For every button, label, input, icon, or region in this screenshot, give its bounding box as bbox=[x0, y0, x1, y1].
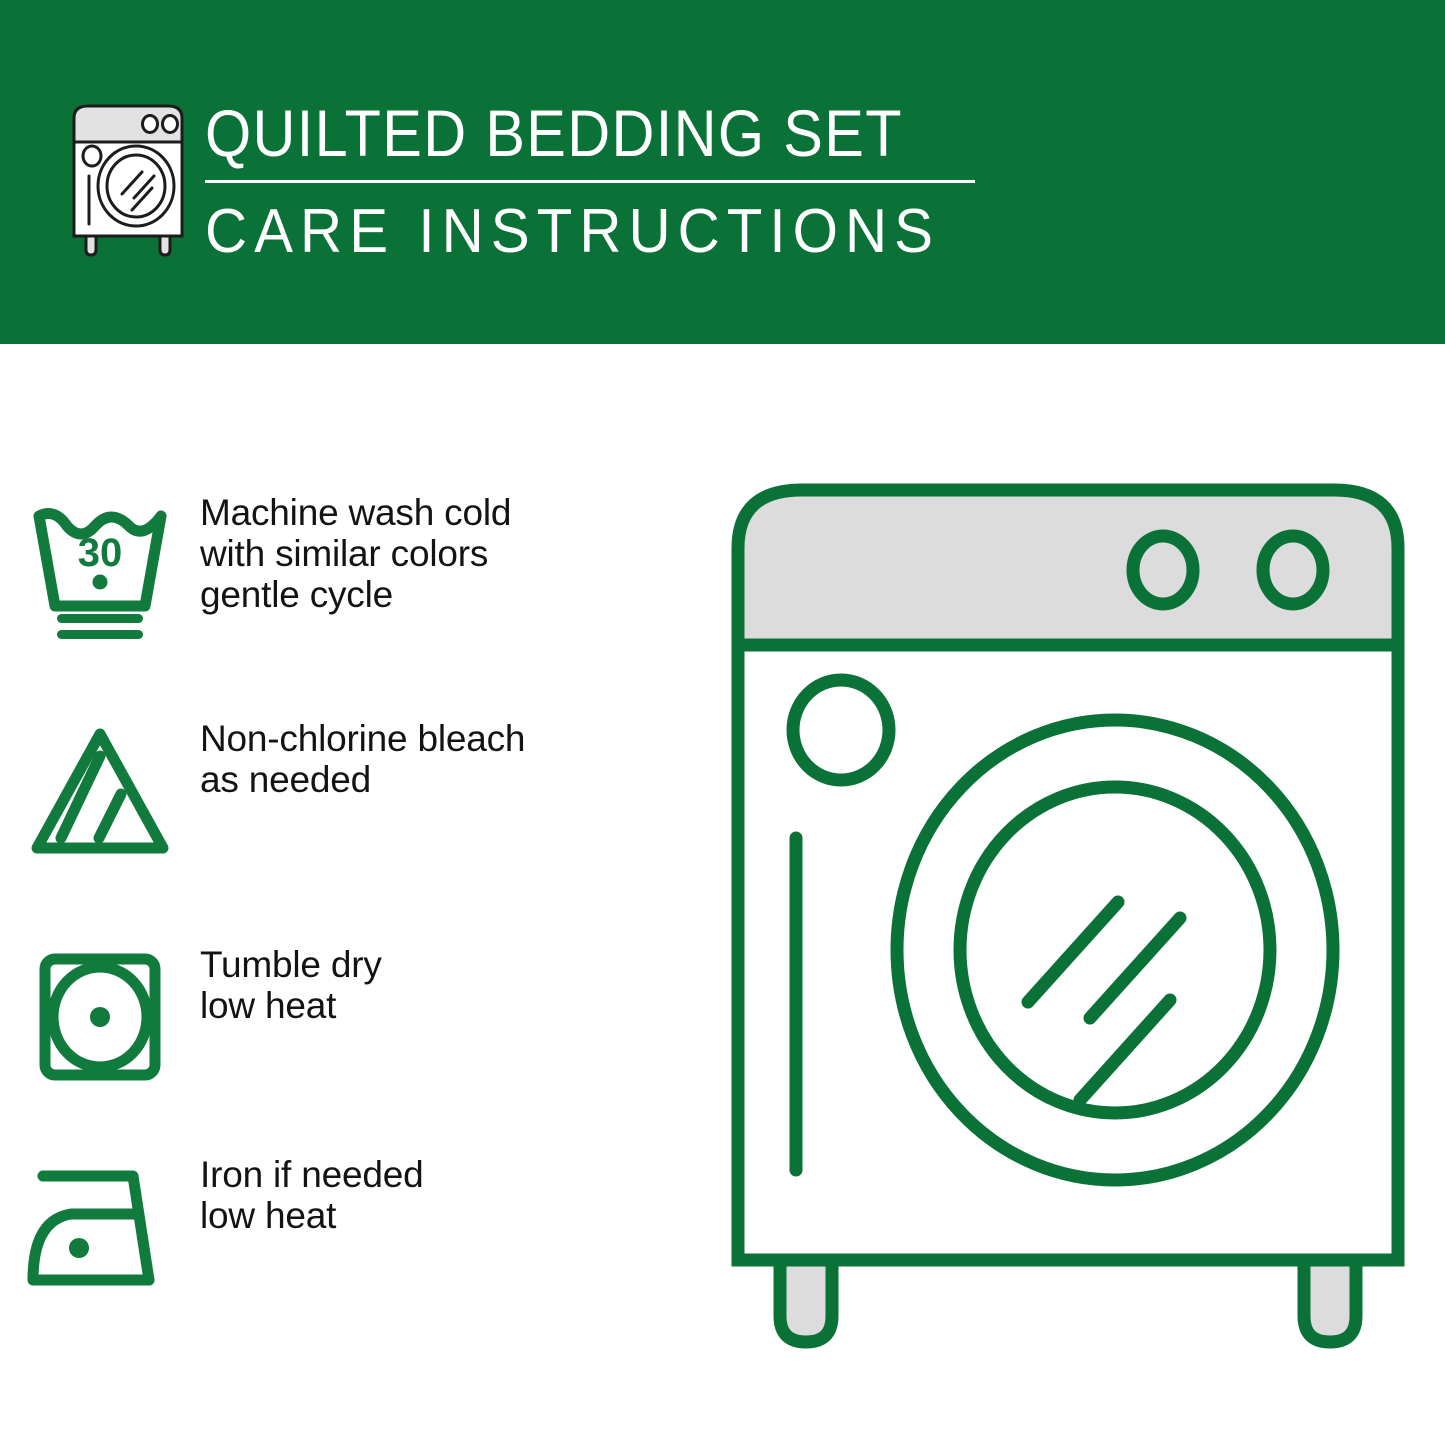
care-line: Machine wash cold bbox=[200, 492, 700, 533]
care-text-machine-wash: Machine wash cold with similar colors ge… bbox=[190, 490, 700, 615]
wash-temp-label: 30 bbox=[78, 531, 123, 575]
care-instruction-list: 30 Machine wash cold with similar colors… bbox=[0, 344, 700, 1445]
page-title: QUILTED BEDDING SET bbox=[205, 96, 916, 170]
care-line: gentle cycle bbox=[200, 574, 700, 615]
tumble-dry-icon bbox=[0, 942, 190, 1092]
care-text-iron: Iron if needed low heat bbox=[190, 1152, 700, 1236]
care-row-tumble-dry: Tumble dry low heat bbox=[0, 942, 700, 1092]
care-line: as needed bbox=[200, 759, 700, 800]
header-text-block: QUILTED BEDDING SET CARE INSTRUCTIONS bbox=[205, 96, 995, 267]
care-line: Tumble dry bbox=[200, 944, 700, 985]
front-load-washing-machine-illustration bbox=[718, 470, 1418, 1370]
care-line: Iron if needed bbox=[200, 1154, 700, 1195]
care-instructions-page: QUILTED BEDDING SET CARE INSTRUCTIONS 30 bbox=[0, 0, 1445, 1445]
iron-icon bbox=[0, 1152, 190, 1302]
care-text-tumble-dry: Tumble dry low heat bbox=[190, 942, 700, 1026]
header-banner: QUILTED BEDDING SET CARE INSTRUCTIONS bbox=[0, 0, 1445, 344]
care-line: Non-chlorine bleach bbox=[200, 718, 700, 759]
care-line: low heat bbox=[200, 1195, 700, 1236]
page-subtitle: CARE INSTRUCTIONS bbox=[205, 197, 948, 267]
care-row-machine-wash: 30 Machine wash cold with similar colors… bbox=[0, 490, 700, 640]
care-text-bleach: Non-chlorine bleach as needed bbox=[190, 716, 700, 800]
washing-machine-icon bbox=[62, 98, 194, 258]
care-line: with similar colors bbox=[200, 533, 700, 574]
bleach-triangle-icon bbox=[0, 716, 190, 866]
care-row-iron: Iron if needed low heat bbox=[0, 1152, 700, 1302]
title-divider bbox=[205, 180, 975, 183]
care-line: low heat bbox=[200, 985, 700, 1026]
wash-tub-30-icon: 30 bbox=[0, 490, 190, 640]
care-row-bleach: Non-chlorine bleach as needed bbox=[0, 716, 700, 866]
